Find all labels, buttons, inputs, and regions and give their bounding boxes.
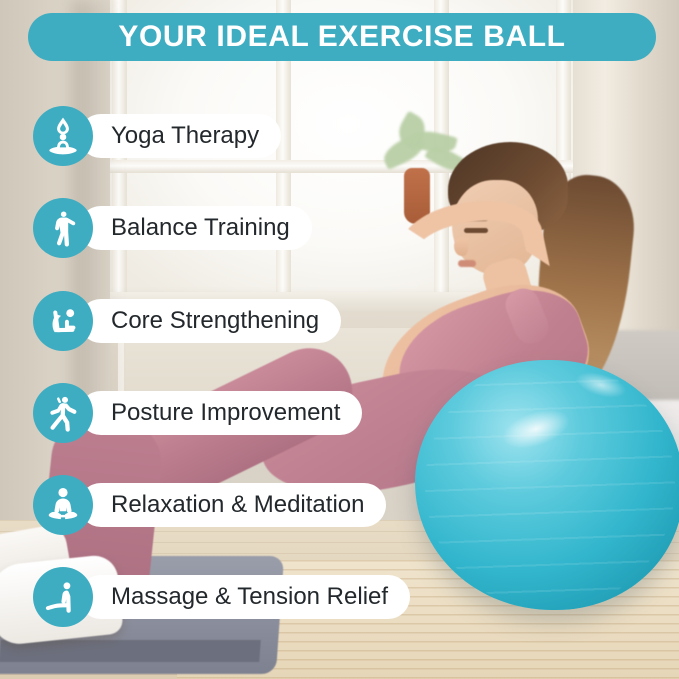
feature-item-massage-tension-relief[interactable]: Massage & Tension Relief xyxy=(33,566,424,628)
header-banner: YOUR IDEAL EXERCISE BALL xyxy=(28,13,656,61)
massage-table-icon xyxy=(33,567,93,627)
posture-warrior-icon xyxy=(33,383,93,443)
feature-label: Massage & Tension Relief xyxy=(79,575,410,619)
meditation-lotus-icon xyxy=(33,475,93,535)
balance-one-leg-icon xyxy=(33,198,93,258)
yoga-lotus-arms-up-icon xyxy=(33,106,93,166)
feature-label: Yoga Therapy xyxy=(79,114,281,158)
feature-item-core-strengthening[interactable]: Core Strengthening xyxy=(33,290,355,352)
core-crunch-icon xyxy=(33,291,93,351)
feature-item-yoga-therapy[interactable]: Yoga Therapy xyxy=(33,105,295,167)
feature-item-balance-training[interactable]: Balance Training xyxy=(33,197,326,259)
feature-label: Balance Training xyxy=(79,206,312,250)
feature-item-relaxation-meditation[interactable]: Relaxation & Meditation xyxy=(33,474,400,536)
marketing-overlay: YOUR IDEAL EXERCISE BALL Yoga Therapy Ba… xyxy=(0,0,679,679)
page-title: YOUR IDEAL EXERCISE BALL xyxy=(118,20,565,54)
feature-label: Core Strengthening xyxy=(79,299,341,343)
feature-label: Posture Improvement xyxy=(79,391,362,435)
feature-item-posture-improvement[interactable]: Posture Improvement xyxy=(33,382,376,444)
feature-label: Relaxation & Meditation xyxy=(79,483,386,527)
